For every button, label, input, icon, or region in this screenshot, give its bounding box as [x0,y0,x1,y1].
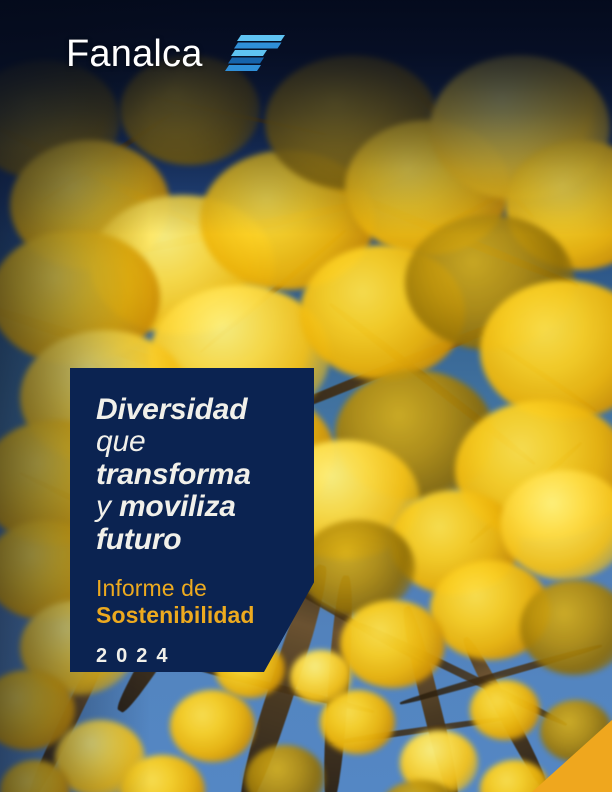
title-word-diversidad: Diversidad [96,393,247,426]
brand-logo[interactable]: Fanalca [66,33,285,75]
subtitle-sostenibilidad: Sostenibilidad [96,602,304,629]
title-word-futuro: futuro [96,523,181,556]
title-word-y: y [96,490,111,523]
title-line-2: que [96,426,304,458]
title-line-3: transforma [96,459,304,491]
title-line-5: futuro [96,524,304,556]
fanalca-speed-lines-icon [223,33,285,75]
title-line-4: y moviliza [96,491,304,523]
cover-subtitle: Informe de Sostenibilidad [96,575,304,628]
brand-wordmark: Fanalca [66,35,203,73]
title-word-moviliza: moviliza [119,490,236,523]
title-line-1: Diversidad [96,394,304,426]
cover-title-panel: Diversidad que transforma y moviliza fut… [70,368,314,672]
report-cover-page: Fanalca Diversidad que transforma [0,0,612,792]
cover-title-content: Diversidad que transforma y moviliza fut… [96,394,304,668]
subtitle-informe-de: Informe de [96,575,304,602]
title-word-transforma: transforma [96,458,251,491]
title-word-que: que [96,425,145,458]
